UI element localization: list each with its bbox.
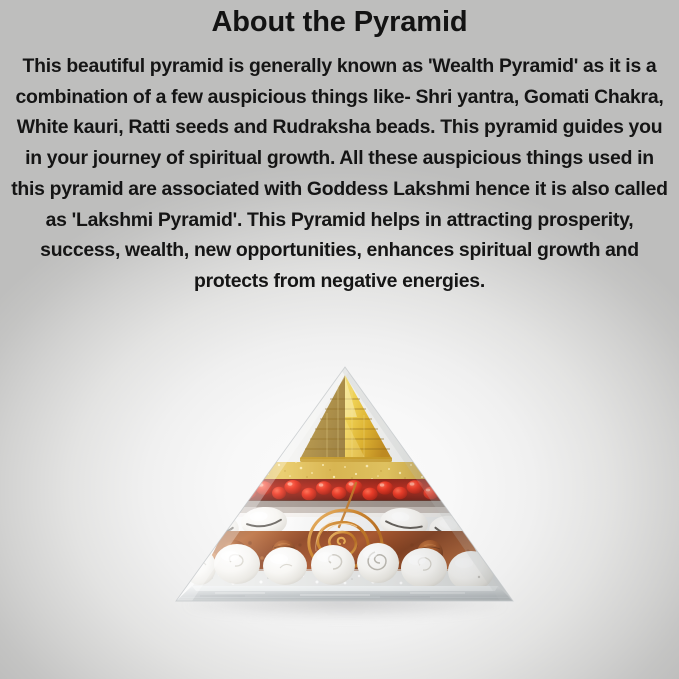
product-image — [0, 355, 679, 625]
page-title: About the Pyramid — [4, 3, 675, 41]
pyramid-body — [176, 367, 513, 601]
description-paragraph: This beautiful pyramid is generally know… — [4, 51, 675, 297]
pyramid-illustration — [0, 355, 679, 625]
product-description-page: About the Pyramid This beautiful pyramid… — [0, 0, 679, 679]
description-text-block: About the Pyramid This beautiful pyramid… — [0, 0, 679, 297]
